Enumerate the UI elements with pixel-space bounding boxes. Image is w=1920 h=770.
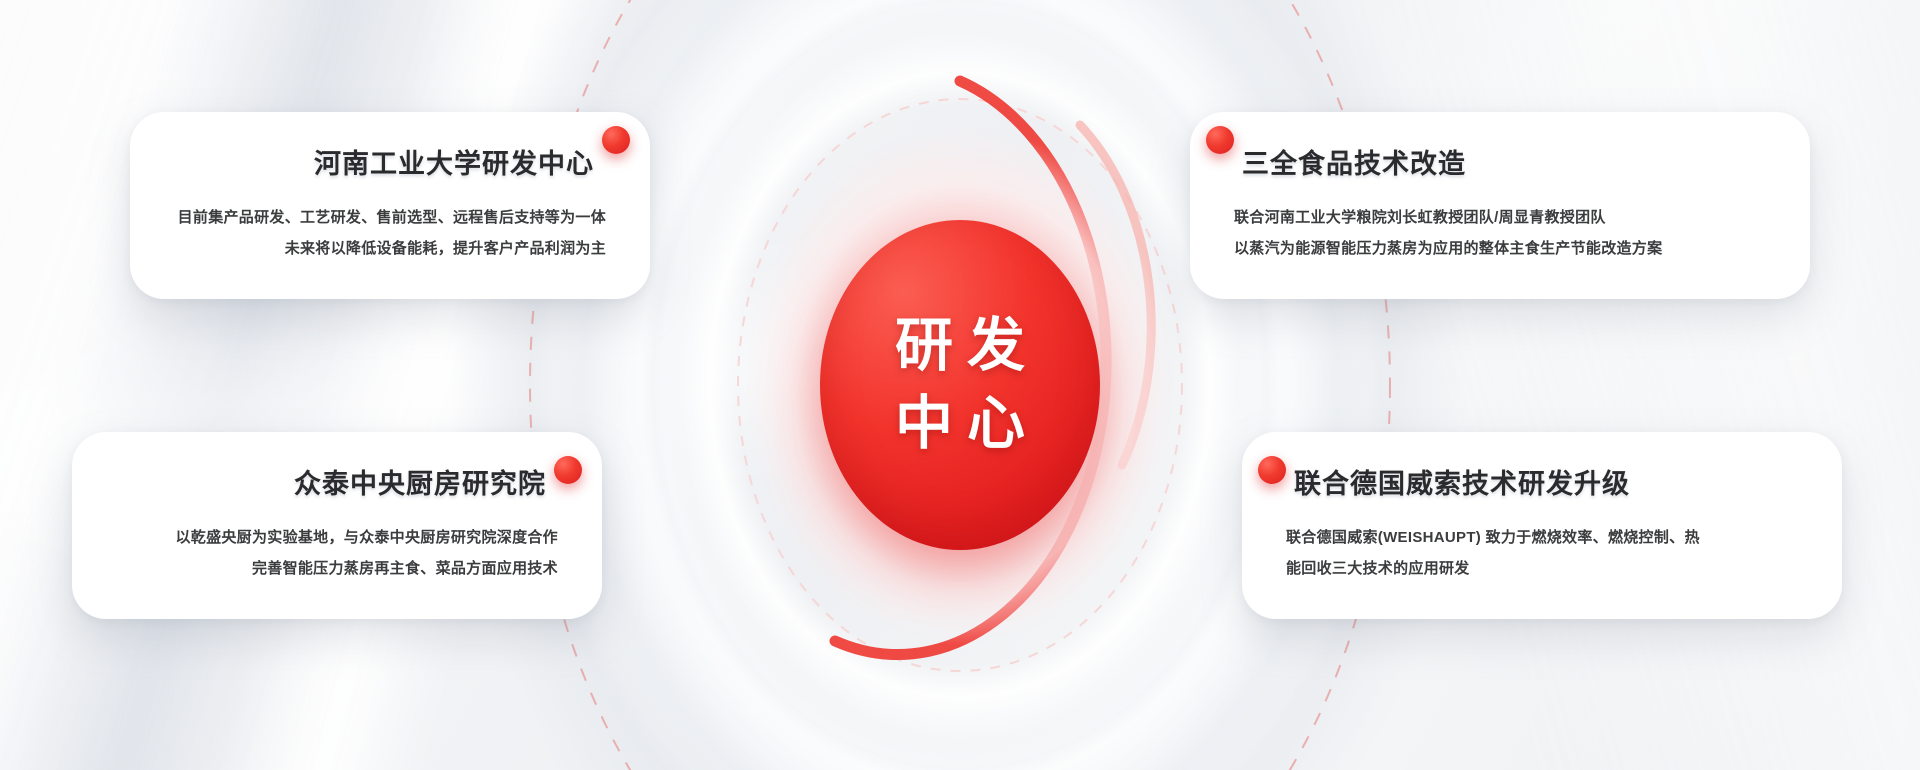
red-dot-icon (602, 126, 630, 154)
infographic-stage: 研发 中心 河南工业大学研发中心 目前集产品研发、工艺研发、售前选型、远程售后支… (0, 0, 1920, 770)
card-body: 联合德国威索(WEISHAUPT) 致力于燃烧效率、燃烧控制、热 能回收三大技术… (1286, 523, 1798, 585)
red-dot-icon (1206, 126, 1234, 154)
card-line: 完善智能压力蒸房再主食、菜品方面应用技术 (116, 554, 558, 585)
card-line: 以蒸汽为能源智能压力蒸房为应用的整体主食生产节能改造方案 (1234, 234, 1766, 265)
card-sanquan-food-tech-upgrade[interactable]: 三全食品技术改造 联合河南工业大学粮院刘长虹教授团队/周显青教授团队 以蒸汽为能… (1190, 112, 1810, 299)
card-line: 联合河南工业大学粮院刘长虹教授团队/周显青教授团队 (1234, 203, 1766, 234)
card-zhongtai-central-kitchen-institute[interactable]: 众泰中央厨房研究院 以乾盛央厨为实验基地，与众泰中央厨房研究院深度合作 完善智能… (72, 432, 602, 619)
card-line: 目前集产品研发、工艺研发、售前选型、远程售后支持等为一体 (174, 203, 606, 234)
card-line: 以乾盛央厨为实验基地，与众泰中央厨房研究院深度合作 (116, 523, 558, 554)
card-line: 未来将以降低设备能耗，提升客户产品利润为主 (174, 234, 606, 265)
card-body: 目前集产品研发、工艺研发、售前选型、远程售后支持等为一体 未来将以降低设备能耗，… (174, 203, 606, 265)
card-henan-university-rd-center[interactable]: 河南工业大学研发中心 目前集产品研发、工艺研发、售前选型、远程售后支持等为一体 … (130, 112, 650, 299)
card-weishaupt-joint-rd-upgrade[interactable]: 联合德国威索技术研发升级 联合德国威索(WEISHAUPT) 致力于燃烧效率、燃… (1242, 432, 1842, 619)
card-title: 三全食品技术改造 (1234, 142, 1766, 181)
card-line: 联合德国威索(WEISHAUPT) 致力于燃烧效率、燃烧控制、热 (1286, 523, 1798, 554)
red-dot-icon (1258, 456, 1286, 484)
center-label-line-2: 中心 (881, 390, 1039, 458)
card-title: 众泰中央厨房研究院 (116, 462, 558, 501)
center-label-line-1: 研发 (881, 312, 1039, 380)
card-title: 联合德国威索技术研发升级 (1286, 462, 1798, 501)
card-title: 河南工业大学研发中心 (174, 142, 606, 181)
card-body: 以乾盛央厨为实验基地，与众泰中央厨房研究院深度合作 完善智能压力蒸房再主食、菜品… (116, 523, 558, 585)
card-line: 能回收三大技术的应用研发 (1286, 554, 1798, 585)
card-body: 联合河南工业大学粮院刘长虹教授团队/周显青教授团队 以蒸汽为能源智能压力蒸房为应… (1234, 203, 1766, 265)
center-badge: 研发 中心 (820, 220, 1100, 550)
red-dot-icon (554, 456, 582, 484)
